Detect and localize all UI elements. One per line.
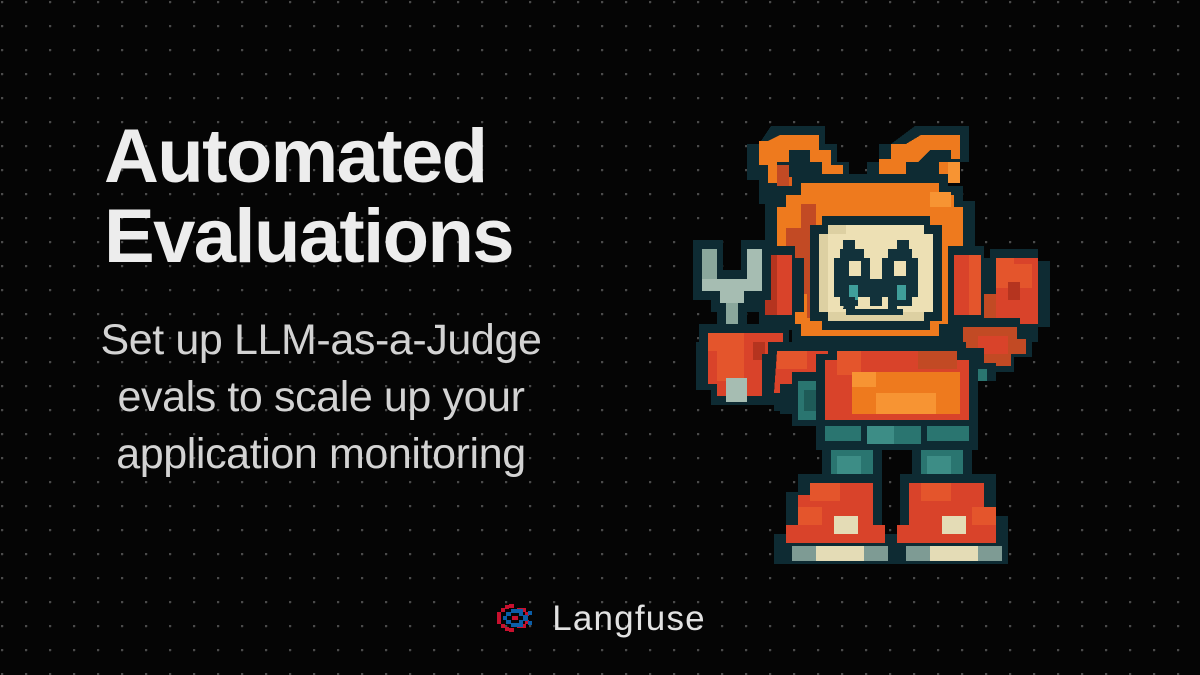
text-column: Automated Evaluations Set up LLM-as-a-Ju… <box>0 0 660 600</box>
page-subtitle: Set up LLM-as-a-Judge evals to scale up … <box>24 312 636 484</box>
subtitle-line-1: Set up LLM-as-a-Judge <box>24 312 618 369</box>
brand-name: Langfuse <box>552 599 706 639</box>
mascot-face <box>810 216 942 330</box>
mascot-boots <box>774 474 1008 564</box>
headline-line-1: Automated <box>104 117 636 198</box>
subtitle-line-2: evals to scale up your <box>24 369 618 426</box>
brand-lockup: Langfuse <box>0 591 1200 647</box>
subtitle-line-3: application monitoring <box>24 426 618 483</box>
langfuse-logo-icon <box>494 598 536 640</box>
page-title: Automated Evaluations <box>24 117 636 278</box>
mascot-torso <box>816 342 978 450</box>
headline-line-2: Evaluations <box>104 197 636 278</box>
mascot-illustration <box>678 108 1062 570</box>
social-card: Automated Evaluations Set up LLM-as-a-Ju… <box>0 0 1200 675</box>
